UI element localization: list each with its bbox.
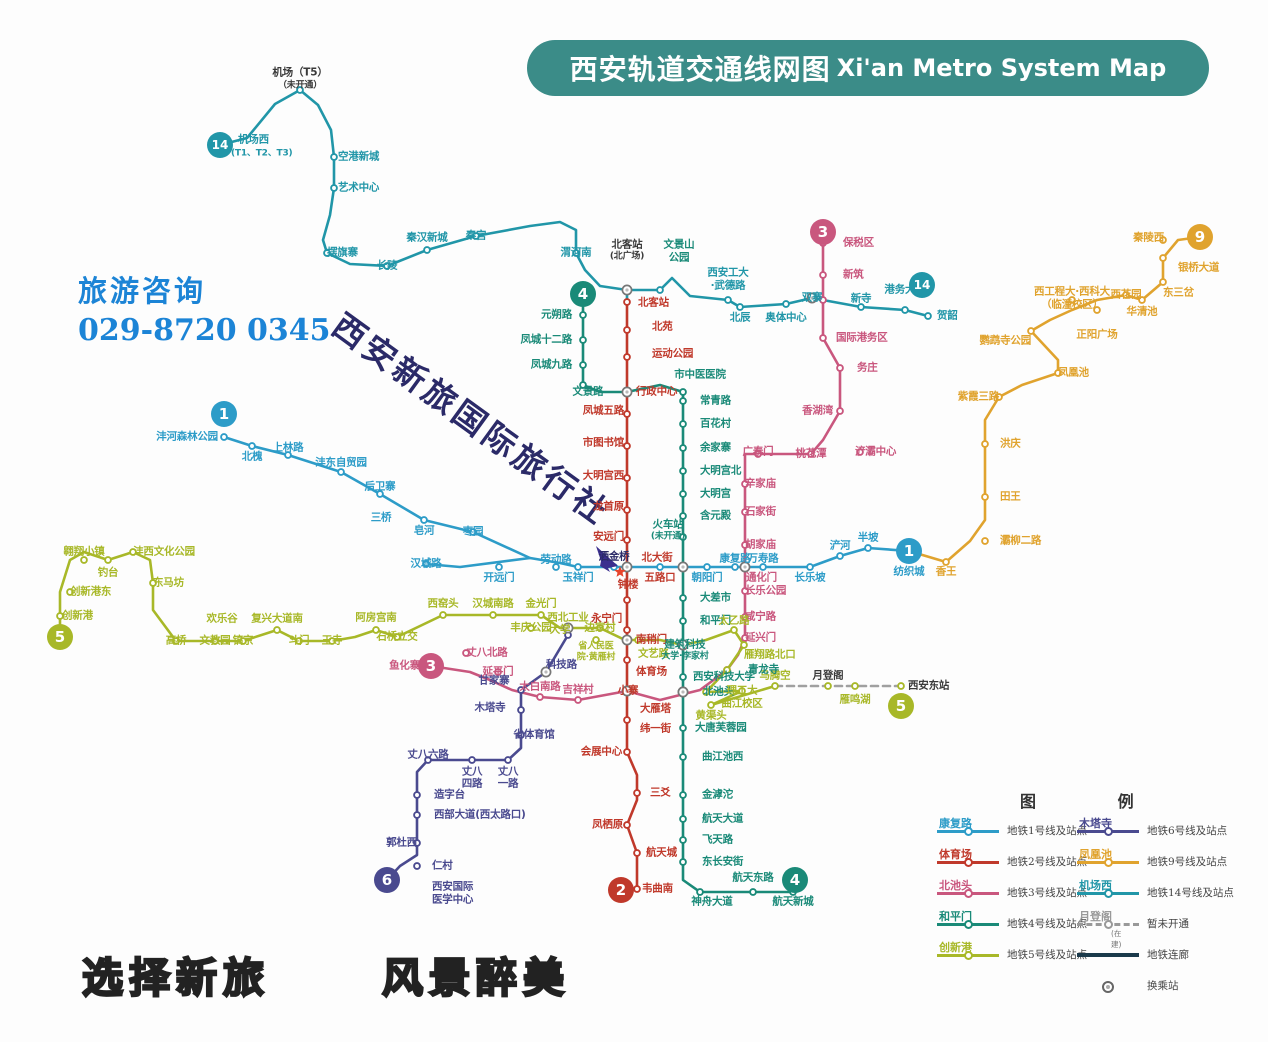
station-dot-line1-14[interactable] — [704, 564, 710, 570]
station-dot-line4-26[interactable] — [697, 889, 703, 895]
station-dot-line4-21[interactable] — [680, 754, 686, 760]
station-dot-line3-3[interactable] — [820, 335, 826, 341]
map-title-cn: 西安轨道交通线网图 — [570, 48, 831, 88]
station-dot-line14-3[interactable] — [331, 185, 337, 191]
transfer-station-core-3 — [681, 565, 684, 568]
station-dot-line5-25[interactable] — [724, 667, 730, 673]
station-dot-line5-5[interactable] — [150, 580, 156, 586]
station-dot-line3-19[interactable] — [575, 697, 581, 703]
station-dot-line1-5[interactable] — [421, 517, 427, 523]
station-dot-line3-14[interactable] — [742, 614, 748, 620]
station-dot-line4-8[interactable] — [680, 421, 686, 427]
line-9-track — [909, 237, 1200, 562]
station-dot-line4-12[interactable] — [680, 513, 686, 519]
station-dot-line9-10[interactable] — [982, 441, 988, 447]
legend-station-dot-3 — [964, 920, 973, 929]
station-dot-line3-22[interactable] — [463, 650, 469, 656]
legend-desc-0: 地铁1号线及站点 — [1007, 823, 1087, 838]
station-dot-line3-5[interactable] — [837, 408, 843, 414]
legend-corridor-desc: 地铁连廊 — [1147, 947, 1189, 962]
line-badge-3-1[interactable]: 3 — [418, 653, 444, 679]
station-dot-line5-13[interactable] — [394, 634, 400, 640]
station-dot-line3-7[interactable] — [808, 451, 814, 457]
line-badge-1-1[interactable]: 1 — [896, 538, 922, 564]
station-dot-line2-17[interactable] — [624, 822, 630, 828]
legend-station-dot-0 — [964, 827, 973, 836]
station-dot-line3-11[interactable] — [742, 542, 748, 548]
map-title-en: Xi'an Metro System Map — [837, 54, 1167, 82]
line-badge-6-0[interactable]: 6 — [374, 867, 400, 893]
station-dot-line9-13[interactable] — [943, 559, 949, 565]
station-dot-line1-8[interactable] — [496, 564, 502, 570]
station-dot-line5-29[interactable] — [772, 683, 778, 689]
line-badge-4-0[interactable]: 4 — [570, 281, 596, 307]
station-dot-line3-4[interactable] — [837, 365, 843, 371]
station-dot-line9-6[interactable] — [1094, 307, 1100, 313]
line-badge-2-0[interactable]: 2 — [608, 877, 634, 903]
bottom-slogans: 选择新旅 风景醉美 — [82, 944, 570, 1004]
station-dot-line5-30[interactable] — [852, 683, 858, 689]
station-dot-line6-5[interactable] — [425, 757, 431, 763]
station-dot-line5-27[interactable] — [739, 688, 745, 694]
station-dot-line6-1[interactable] — [414, 863, 420, 869]
transfer-station-core-6 — [743, 565, 746, 568]
transfer-station-core-9 — [544, 670, 547, 673]
line-4-track — [583, 294, 793, 892]
station-dot-line6-9[interactable] — [518, 707, 524, 713]
station-dot-line5-32[interactable] — [898, 683, 904, 689]
station-dot-line6-10[interactable] — [518, 687, 524, 693]
station-dot-line2-7[interactable] — [624, 507, 630, 513]
line-badge-5-1[interactable]: 5 — [888, 693, 914, 719]
station-dot-line14-8[interactable] — [573, 250, 579, 256]
station-dot-line1-10[interactable] — [575, 564, 581, 570]
transfer-station-core-2 — [625, 565, 628, 568]
legend-corridor-sample — [1077, 953, 1139, 957]
station-dot-line3-8[interactable] — [755, 451, 761, 457]
station-dot-line5-7[interactable] — [212, 638, 218, 644]
station-dot-line4-9[interactable] — [680, 445, 686, 451]
legend-desc-5: 地铁6号线及站点 — [1147, 823, 1227, 838]
station-dot-line5-26[interactable] — [703, 689, 709, 695]
station-dot-line4-27[interactable] — [750, 889, 756, 895]
station-dot-line1-1[interactable] — [249, 443, 255, 449]
legend-desc-8: 暂未开通 — [1147, 916, 1189, 931]
station-dot-line2-16[interactable] — [634, 790, 640, 796]
transfer-station-core-0 — [625, 288, 628, 291]
station-dot-line4-11[interactable] — [680, 491, 686, 497]
station-dot-line5-11[interactable] — [329, 638, 335, 644]
station-dot-line9-5[interactable] — [1069, 297, 1075, 303]
station-dot-line5-4[interactable] — [130, 549, 136, 555]
station-dot-line5-6[interactable] — [173, 638, 179, 644]
station-dot-line4-3[interactable] — [580, 362, 586, 368]
station-dot-line4-18[interactable] — [680, 674, 686, 680]
station-dot-line5-28[interactable] — [708, 702, 714, 708]
station-dot-line2-18[interactable] — [634, 850, 640, 856]
map-title-pill: 西安轨道交通线网图 Xi'an Metro System Map — [527, 40, 1209, 96]
station-dot-line6-3[interactable] — [414, 812, 420, 818]
tourism-label: 旅游咨询 — [78, 268, 331, 310]
station-dot-line2-5[interactable] — [624, 443, 630, 449]
station-dot-line1-4[interactable] — [377, 491, 383, 497]
station-dot-line3-1[interactable] — [820, 272, 826, 278]
station-dot-line9-1[interactable] — [1160, 255, 1166, 261]
legend-station-dot-7 — [1104, 889, 1113, 898]
station-dot-line5-14[interactable] — [440, 612, 446, 618]
station-dot-line1-19[interactable] — [837, 553, 843, 559]
station-dot-line6-7[interactable] — [505, 757, 511, 763]
transfer-station-core-10 — [681, 643, 684, 646]
station-dot-line5-3[interactable] — [105, 557, 111, 563]
station-dot-line9-8[interactable] — [1055, 370, 1061, 376]
station-dot-line4-22[interactable] — [680, 792, 686, 798]
station-dot-line2-11[interactable] — [624, 627, 630, 633]
station-dot-line14-7[interactable] — [473, 233, 479, 239]
line-badge-14-1[interactable]: 14 — [909, 272, 935, 298]
station-dot-line1-2[interactable] — [285, 452, 291, 458]
station-dot-line6-8[interactable] — [518, 732, 524, 738]
station-dot-line9-9[interactable] — [996, 394, 1002, 400]
station-dot-line3-15[interactable] — [742, 635, 748, 641]
station-dot-line1-20[interactable] — [865, 545, 871, 551]
station-dot-line14-2[interactable] — [331, 154, 337, 160]
station-dot-line2-0[interactable] — [624, 299, 630, 305]
station-dot-line1-15[interactable] — [732, 564, 738, 570]
station-dot-line2-1[interactable] — [624, 327, 630, 333]
station-dot-line2-4[interactable] — [624, 411, 630, 417]
station-dot-line4-15[interactable] — [680, 595, 686, 601]
station-dot-line5-9[interactable] — [274, 627, 280, 633]
station-dot-line2-10[interactable] — [624, 597, 630, 603]
station-dot-line3-6[interactable] — [857, 449, 863, 455]
station-dot-line14-17[interactable] — [925, 313, 931, 319]
station-dot-line3-9[interactable] — [742, 481, 748, 487]
station-dot-line2-12[interactable] — [624, 657, 630, 663]
station-dot-line4-24[interactable] — [680, 837, 686, 843]
station-dot-line4-23[interactable] — [680, 816, 686, 822]
legend-station-dot-6 — [1104, 858, 1113, 867]
station-dot-line5-16[interactable] — [538, 612, 544, 618]
station-dot-line14-5[interactable] — [384, 263, 390, 269]
transfer-station-core-11 — [625, 638, 628, 641]
station-dot-line6-2[interactable] — [414, 840, 420, 846]
legend-station-dot-2 — [964, 889, 973, 898]
station-dot-line14-11[interactable] — [725, 297, 731, 303]
station-dot-line4-7[interactable] — [680, 398, 686, 404]
station-dot-line14-12[interactable] — [737, 304, 743, 310]
station-dot-line2-8[interactable] — [624, 537, 630, 543]
station-dot-line2-2[interactable] — [624, 354, 630, 360]
legend-transfer-desc: 换乘站 — [1147, 978, 1179, 993]
line-badge-14-0[interactable]: 14 — [207, 132, 233, 158]
line-badge-1-0[interactable]: 1 — [211, 401, 237, 427]
station-dot-line14-15[interactable] — [858, 304, 864, 310]
station-dot-line5-8[interactable] — [240, 638, 246, 644]
tourism-info-block: 旅游咨询 029-8720 0345 — [78, 268, 331, 348]
station-dot-line5-20[interactable] — [593, 637, 599, 643]
station-dot-line4-13[interactable] — [680, 534, 686, 540]
line-1-track-branch — [426, 558, 530, 567]
station-dot-line1-3[interactable] — [338, 469, 344, 475]
station-dot-line5-17[interactable] — [528, 625, 534, 631]
slogan-right: 风景醉美 — [382, 944, 570, 1004]
transfer-station-core-8 — [566, 626, 569, 629]
legend-desc-1: 地铁2号线及站点 — [1007, 854, 1087, 869]
station-dot-line14-6[interactable] — [424, 247, 430, 253]
station-dot-line9-0[interactable] — [1160, 237, 1166, 243]
legend-desc-4: 地铁5号线及站点 — [1007, 947, 1087, 962]
line-badge-5-0[interactable]: 5 — [47, 624, 73, 650]
transfer-station-core-1 — [625, 390, 628, 393]
station-dot-line5-31[interactable] — [825, 683, 831, 689]
station-dot-line2-6[interactable] — [624, 475, 630, 481]
legend-station-dot-5 — [1104, 827, 1113, 836]
station-dot-line3-2[interactable] — [820, 297, 826, 303]
legend: 图 例 康复路地铁1号线及站点体育场地铁2号线及站点北池头地铁3号线及站点和平门… — [935, 788, 1235, 1003]
station-dot-line5-24[interactable] — [741, 642, 747, 648]
legend-desc-3: 地铁4号线及站点 — [1007, 916, 1087, 931]
station-dot-line9-3[interactable] — [1139, 297, 1145, 303]
station-dot-line14-4[interactable] — [324, 250, 330, 256]
station-dot-line3-21[interactable] — [495, 669, 501, 675]
station-dot-line1-9[interactable] — [553, 564, 559, 570]
transfer-station-core-4 — [625, 689, 628, 692]
line-badge-3-0[interactable]: 3 — [810, 219, 836, 245]
station-dot-line5-10[interactable] — [296, 638, 302, 644]
legend-station-dot-4 — [964, 951, 973, 960]
station-dot-line14-13[interactable] — [783, 301, 789, 307]
station-dot-line9-12[interactable] — [982, 538, 988, 544]
station-dot-line4-16[interactable] — [680, 618, 686, 624]
tourism-phone: 029-8720 0345 — [78, 313, 331, 348]
station-dot-line4-1[interactable] — [580, 312, 586, 318]
legend-desc-7: 地铁14号线及站点 — [1147, 885, 1234, 900]
line-badge-4-1[interactable]: 4 — [782, 867, 808, 893]
legend-desc-2: 地铁3号线及站点 — [1007, 885, 1087, 900]
station-dot-line14-1[interactable] — [297, 87, 303, 93]
station-dot-line5-23[interactable] — [731, 627, 737, 633]
transfer-station-core-12 — [810, 296, 813, 299]
station-dot-line6-4[interactable] — [414, 792, 420, 798]
station-dot-line3-10[interactable] — [742, 509, 748, 515]
station-dot-line2-14[interactable] — [624, 717, 630, 723]
legend-transfer-icon — [1102, 981, 1114, 993]
legend-title: 图 例 — [1020, 788, 1172, 812]
station-dot-line4-2[interactable] — [580, 337, 586, 343]
station-dot-line6-6[interactable] — [469, 757, 475, 763]
station-dot-line3-20[interactable] — [537, 694, 543, 700]
station-dot-line1-6[interactable] — [470, 529, 476, 535]
station-dot-line1-0[interactable] — [221, 434, 227, 440]
legend-station-dot-1 — [964, 858, 973, 867]
station-dot-line9-4[interactable] — [1123, 292, 1129, 298]
station-dot-line2-19[interactable] — [634, 886, 640, 892]
station-dot-line14-10[interactable] — [657, 287, 663, 293]
station-dot-line4-6[interactable] — [680, 389, 686, 395]
station-dot-line1-7[interactable] — [423, 561, 429, 567]
station-dot-line2-15[interactable] — [624, 749, 630, 755]
station-dot-line5-2[interactable] — [81, 557, 87, 563]
legend-desc-6: 地铁9号线及站点 — [1147, 854, 1227, 869]
station-dot-line5-1[interactable] — [67, 589, 73, 595]
line-badge-9-0[interactable]: 9 — [1187, 224, 1213, 250]
station-dot-line9-11[interactable] — [982, 494, 988, 500]
transfer-station-core-13 — [681, 690, 684, 693]
station-dot-line5-19[interactable] — [597, 625, 603, 631]
station-dot-line9-7[interactable] — [1028, 328, 1034, 334]
station-dot-line14-16[interactable] — [902, 307, 908, 313]
legend-sample-sub-8: (在建) — [1111, 928, 1121, 950]
station-dot-line4-4[interactable] — [580, 382, 586, 388]
station-dot-line3-13[interactable] — [742, 588, 748, 594]
station-dot-line1-17[interactable] — [760, 564, 766, 570]
station-dot-line1-18[interactable] — [807, 564, 813, 570]
station-dot-line4-25[interactable] — [680, 859, 686, 865]
station-dot-line5-0[interactable] — [57, 613, 63, 619]
station-dot-line1-13[interactable] — [657, 564, 663, 570]
station-dot-line9-2[interactable] — [1160, 279, 1166, 285]
station-dot-line5-15[interactable] — [490, 612, 496, 618]
line-14-track-east — [627, 278, 928, 316]
station-dot-line5-21[interactable] — [635, 637, 641, 643]
station-dot-line5-12[interactable] — [373, 627, 379, 633]
slogan-left: 选择新旅 — [82, 944, 270, 1004]
station-dot-line4-20[interactable] — [680, 725, 686, 731]
station-dot-line4-10[interactable] — [680, 468, 686, 474]
